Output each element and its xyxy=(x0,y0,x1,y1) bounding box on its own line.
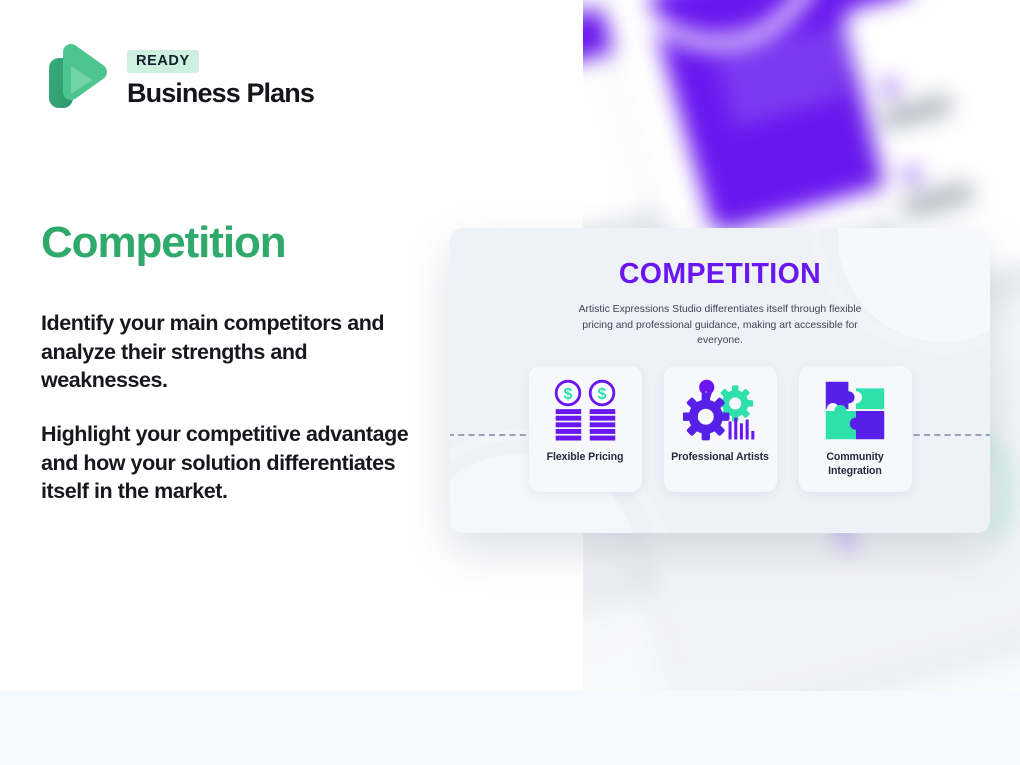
page-title: Competition xyxy=(41,219,286,267)
tile-label: Professional Artists xyxy=(671,451,769,465)
slide-card[interactable]: COMPETITION Artistic Expressions Studio … xyxy=(450,228,990,533)
tile-label: Flexible Pricing xyxy=(547,451,624,465)
tile-community-integration[interactable]: Community Integration xyxy=(799,366,912,492)
brand-name: Business Plans xyxy=(127,78,314,108)
gears-lightbulb-chart-icon xyxy=(683,375,757,447)
svg-text:$: $ xyxy=(598,385,607,403)
slide-title: COMPETITION xyxy=(450,259,990,290)
play-double-icon xyxy=(41,40,113,118)
feature-tiles: $ $ xyxy=(450,366,990,492)
svg-text:$: $ xyxy=(563,385,572,403)
body-paragraph-2: Highlight your competitive advantage and… xyxy=(41,420,433,506)
body-paragraph-1: Identify your main competitors and analy… xyxy=(41,309,433,395)
puzzle-pieces-icon xyxy=(822,375,888,447)
slide-subtitle: Artistic Expressions Studio differentiat… xyxy=(570,302,870,349)
ready-badge: READY xyxy=(127,50,199,73)
coin-stacks-icon: $ $ xyxy=(550,375,620,447)
tile-professional-artists[interactable]: Professional Artists xyxy=(664,366,777,492)
tile-label: Community Integration xyxy=(799,451,912,478)
tile-flexible-pricing[interactable]: $ $ xyxy=(529,366,642,492)
brand-logo[interactable]: READY Business Plans xyxy=(41,40,314,118)
bottom-band xyxy=(0,691,1020,765)
slide-preview-page: READY Business Plans Competition Identif… xyxy=(0,0,1020,765)
